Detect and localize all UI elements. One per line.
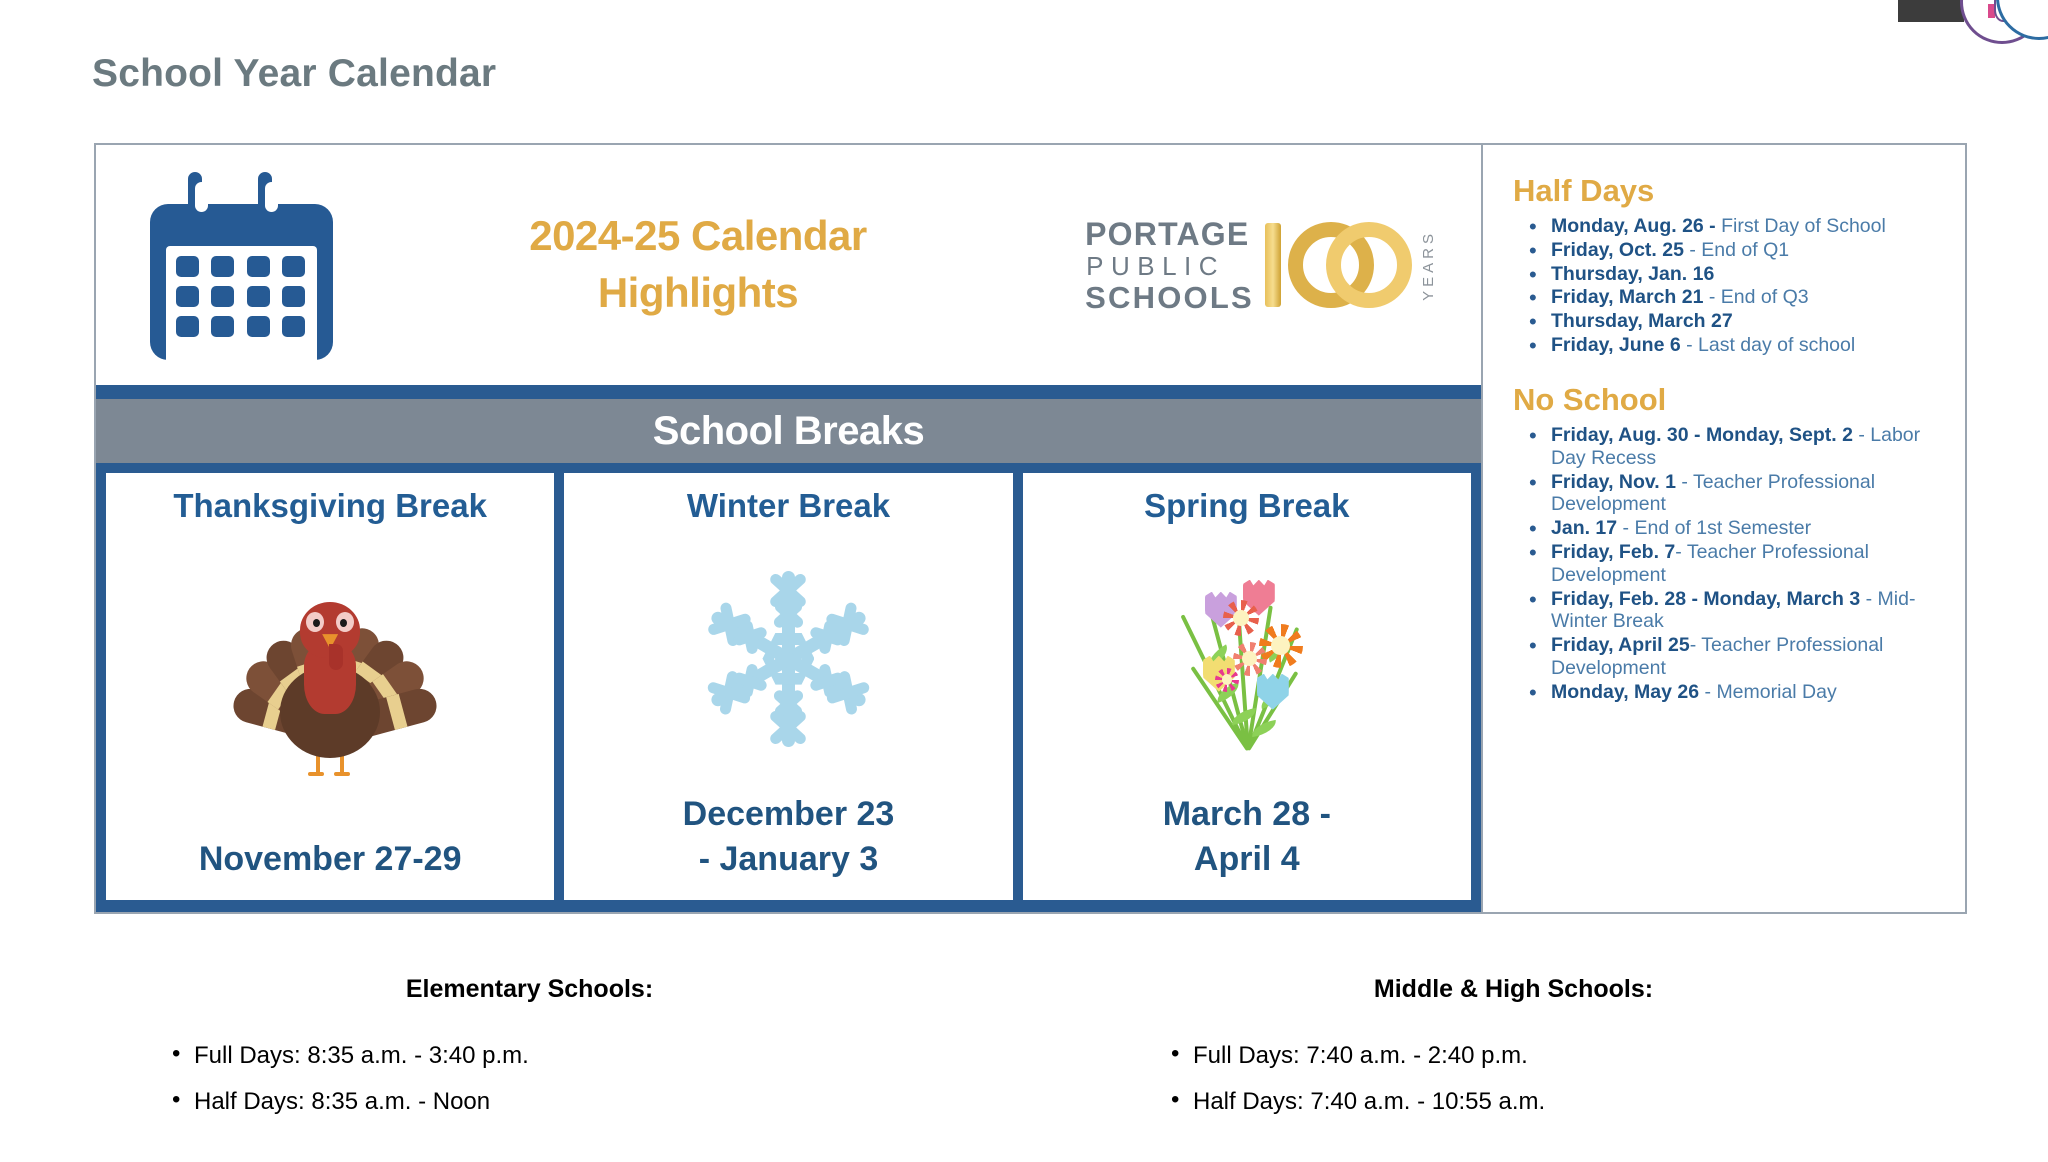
list-item-date: Friday, Oct. 25 <box>1551 239 1684 261</box>
list-item-detail: - End of 1st Semester <box>1617 517 1811 539</box>
no-school-heading: No School <box>1513 382 1939 418</box>
elementary-hours: Elementary Schools: Full Days: 8:35 a.m.… <box>0 975 1049 1134</box>
100-years-mark-icon <box>1265 222 1412 308</box>
list-item: Friday, Nov. 1 - Teacher Professional De… <box>1523 471 1939 517</box>
break-title: Thanksgiving Break <box>173 487 487 525</box>
highlights-left-column: 2024-25 Calendar Highlights PORTAGE PUBL… <box>96 145 1483 912</box>
elementary-hours-list: Full Days: 8:35 a.m. - 3:40 p.m.Half Day… <box>150 1042 1049 1116</box>
break-card-spring: Spring Break <box>1023 473 1471 900</box>
break-card-winter: Winter Break December 23 - January 3 <box>564 473 1012 900</box>
list-item-date: Thursday, Jan. 16 <box>1551 263 1714 285</box>
portage-public-schools-logo: PORTAGE PUBLIC SCHOOLS YEARS <box>1051 218 1471 313</box>
flowers-icon <box>1147 564 1347 754</box>
list-item-detail: First Day of School <box>1716 215 1886 237</box>
list-item: Full Days: 7:40 a.m. - 2:40 p.m. <box>1167 1042 2048 1070</box>
graphic-headline: 2024-25 Calendar Highlights <box>353 208 1043 321</box>
page-title: School Year Calendar <box>92 52 496 96</box>
headline-line-1: 2024-25 Calendar <box>353 208 1043 265</box>
logo-word-schools: SCHOOLS <box>1085 282 1254 313</box>
break-dates-line-2: - January 3 <box>683 837 895 882</box>
list-item: Friday, Feb. 28 - Monday, March 3 - Mid-… <box>1523 588 1939 634</box>
calendar-icon <box>144 168 339 363</box>
list-item: Friday, Aug. 30 - Monday, Sept. 2 - Labo… <box>1523 424 1939 470</box>
highlights-right-column: Half Days Monday, Aug. 26 - First Day of… <box>1483 145 1965 912</box>
break-title: Spring Break <box>1144 487 1349 525</box>
list-item-date: Monday, Aug. 26 - <box>1551 215 1716 237</box>
school-breaks-banner: School Breaks <box>96 399 1481 463</box>
elementary-hours-title: Elementary Schools: <box>150 975 909 1004</box>
logo-years-label: YEARS <box>1420 230 1437 301</box>
top-right-badges <box>1898 0 2048 62</box>
list-item: Half Days: 8:35 a.m. - Noon <box>168 1088 1049 1116</box>
list-item-date: Friday, April 25 <box>1551 634 1690 656</box>
list-item: Full Days: 8:35 a.m. - 3:40 p.m. <box>168 1042 1049 1070</box>
secondary-hours-title: Middle & High Schools: <box>1149 975 1878 1004</box>
blue-divider <box>96 385 1481 399</box>
logo-word-portage: PORTAGE <box>1085 218 1254 250</box>
list-item-detail: - Last day of school <box>1681 334 1856 356</box>
break-dates-line-1: December 23 <box>683 792 895 837</box>
toolbar-fragment <box>1898 0 1964 22</box>
list-item: Friday, Oct. 25 - End of Q1 <box>1523 239 1939 262</box>
list-item: Thursday, March 27 <box>1523 310 1939 333</box>
list-item: Thursday, Jan. 16 <box>1523 263 1939 286</box>
page-root: School Year Calendar <box>0 0 2048 1162</box>
list-item-date: Jan. 17 <box>1551 517 1617 539</box>
graphic-header: 2024-25 Calendar Highlights PORTAGE PUBL… <box>96 145 1481 385</box>
headline-line-2: Highlights <box>353 265 1043 322</box>
break-dates-line-2: April 4 <box>1163 837 1331 882</box>
half-days-list: Monday, Aug. 26 - First Day of SchoolFri… <box>1523 215 1939 357</box>
list-item: Friday, Feb. 7- Teacher Professional Dev… <box>1523 541 1939 587</box>
calendar-highlights-graphic: 2024-25 Calendar Highlights PORTAGE PUBL… <box>94 143 1967 914</box>
break-card-thanksgiving: Thanksgiving Break <box>106 473 554 900</box>
list-item-detail: - Memorial Day <box>1699 681 1837 703</box>
list-item: Jan. 17 - End of 1st Semester <box>1523 517 1939 540</box>
list-item: Friday, June 6 - Last day of school <box>1523 334 1939 357</box>
list-item-date: Friday, June 6 <box>1551 334 1681 356</box>
list-item: Friday, April 25- Teacher Professional D… <box>1523 634 1939 680</box>
list-item-date: Friday, March 21 <box>1551 286 1703 308</box>
school-breaks-banner-label: School Breaks <box>653 409 924 454</box>
list-item-date: Friday, Feb. 7 <box>1551 541 1675 563</box>
turkey-icon <box>230 586 430 776</box>
snowflake-icon <box>698 569 878 749</box>
school-hours-section: Elementary Schools: Full Days: 8:35 a.m.… <box>0 975 2048 1134</box>
logo-word-public: PUBLIC <box>1086 253 1254 279</box>
break-dates-line-1: March 28 - <box>1163 792 1331 837</box>
secondary-hours-list: Full Days: 7:40 a.m. - 2:40 p.m.Half Day… <box>1149 1042 2048 1116</box>
list-item-date: Friday, Feb. 28 - Monday, March 3 <box>1551 588 1860 610</box>
list-item: Monday, May 26 - Memorial Day <box>1523 681 1939 704</box>
list-item-date: Friday, Aug. 30 - Monday, Sept. 2 <box>1551 424 1853 446</box>
list-item-detail: - End of Q3 <box>1703 286 1808 308</box>
list-item-date: Monday, May 26 <box>1551 681 1699 703</box>
list-item-date: Thursday, March 27 <box>1551 310 1733 332</box>
no-school-list: Friday, Aug. 30 - Monday, Sept. 2 - Labo… <box>1523 424 1939 704</box>
list-item: Monday, Aug. 26 - First Day of School <box>1523 215 1939 238</box>
breaks-row: Thanksgiving Break <box>96 463 1481 912</box>
break-title: Winter Break <box>687 487 890 525</box>
list-item-date: Friday, Nov. 1 <box>1551 471 1676 493</box>
list-item: Friday, March 21 - End of Q3 <box>1523 286 1939 309</box>
list-item: Half Days: 7:40 a.m. - 10:55 a.m. <box>1167 1088 2048 1116</box>
break-dates: November 27-29 <box>199 837 462 882</box>
list-item-detail: - End of Q1 <box>1684 239 1789 261</box>
half-days-heading: Half Days <box>1513 173 1939 209</box>
secondary-hours: Middle & High Schools: Full Days: 7:40 a… <box>1049 975 2048 1134</box>
